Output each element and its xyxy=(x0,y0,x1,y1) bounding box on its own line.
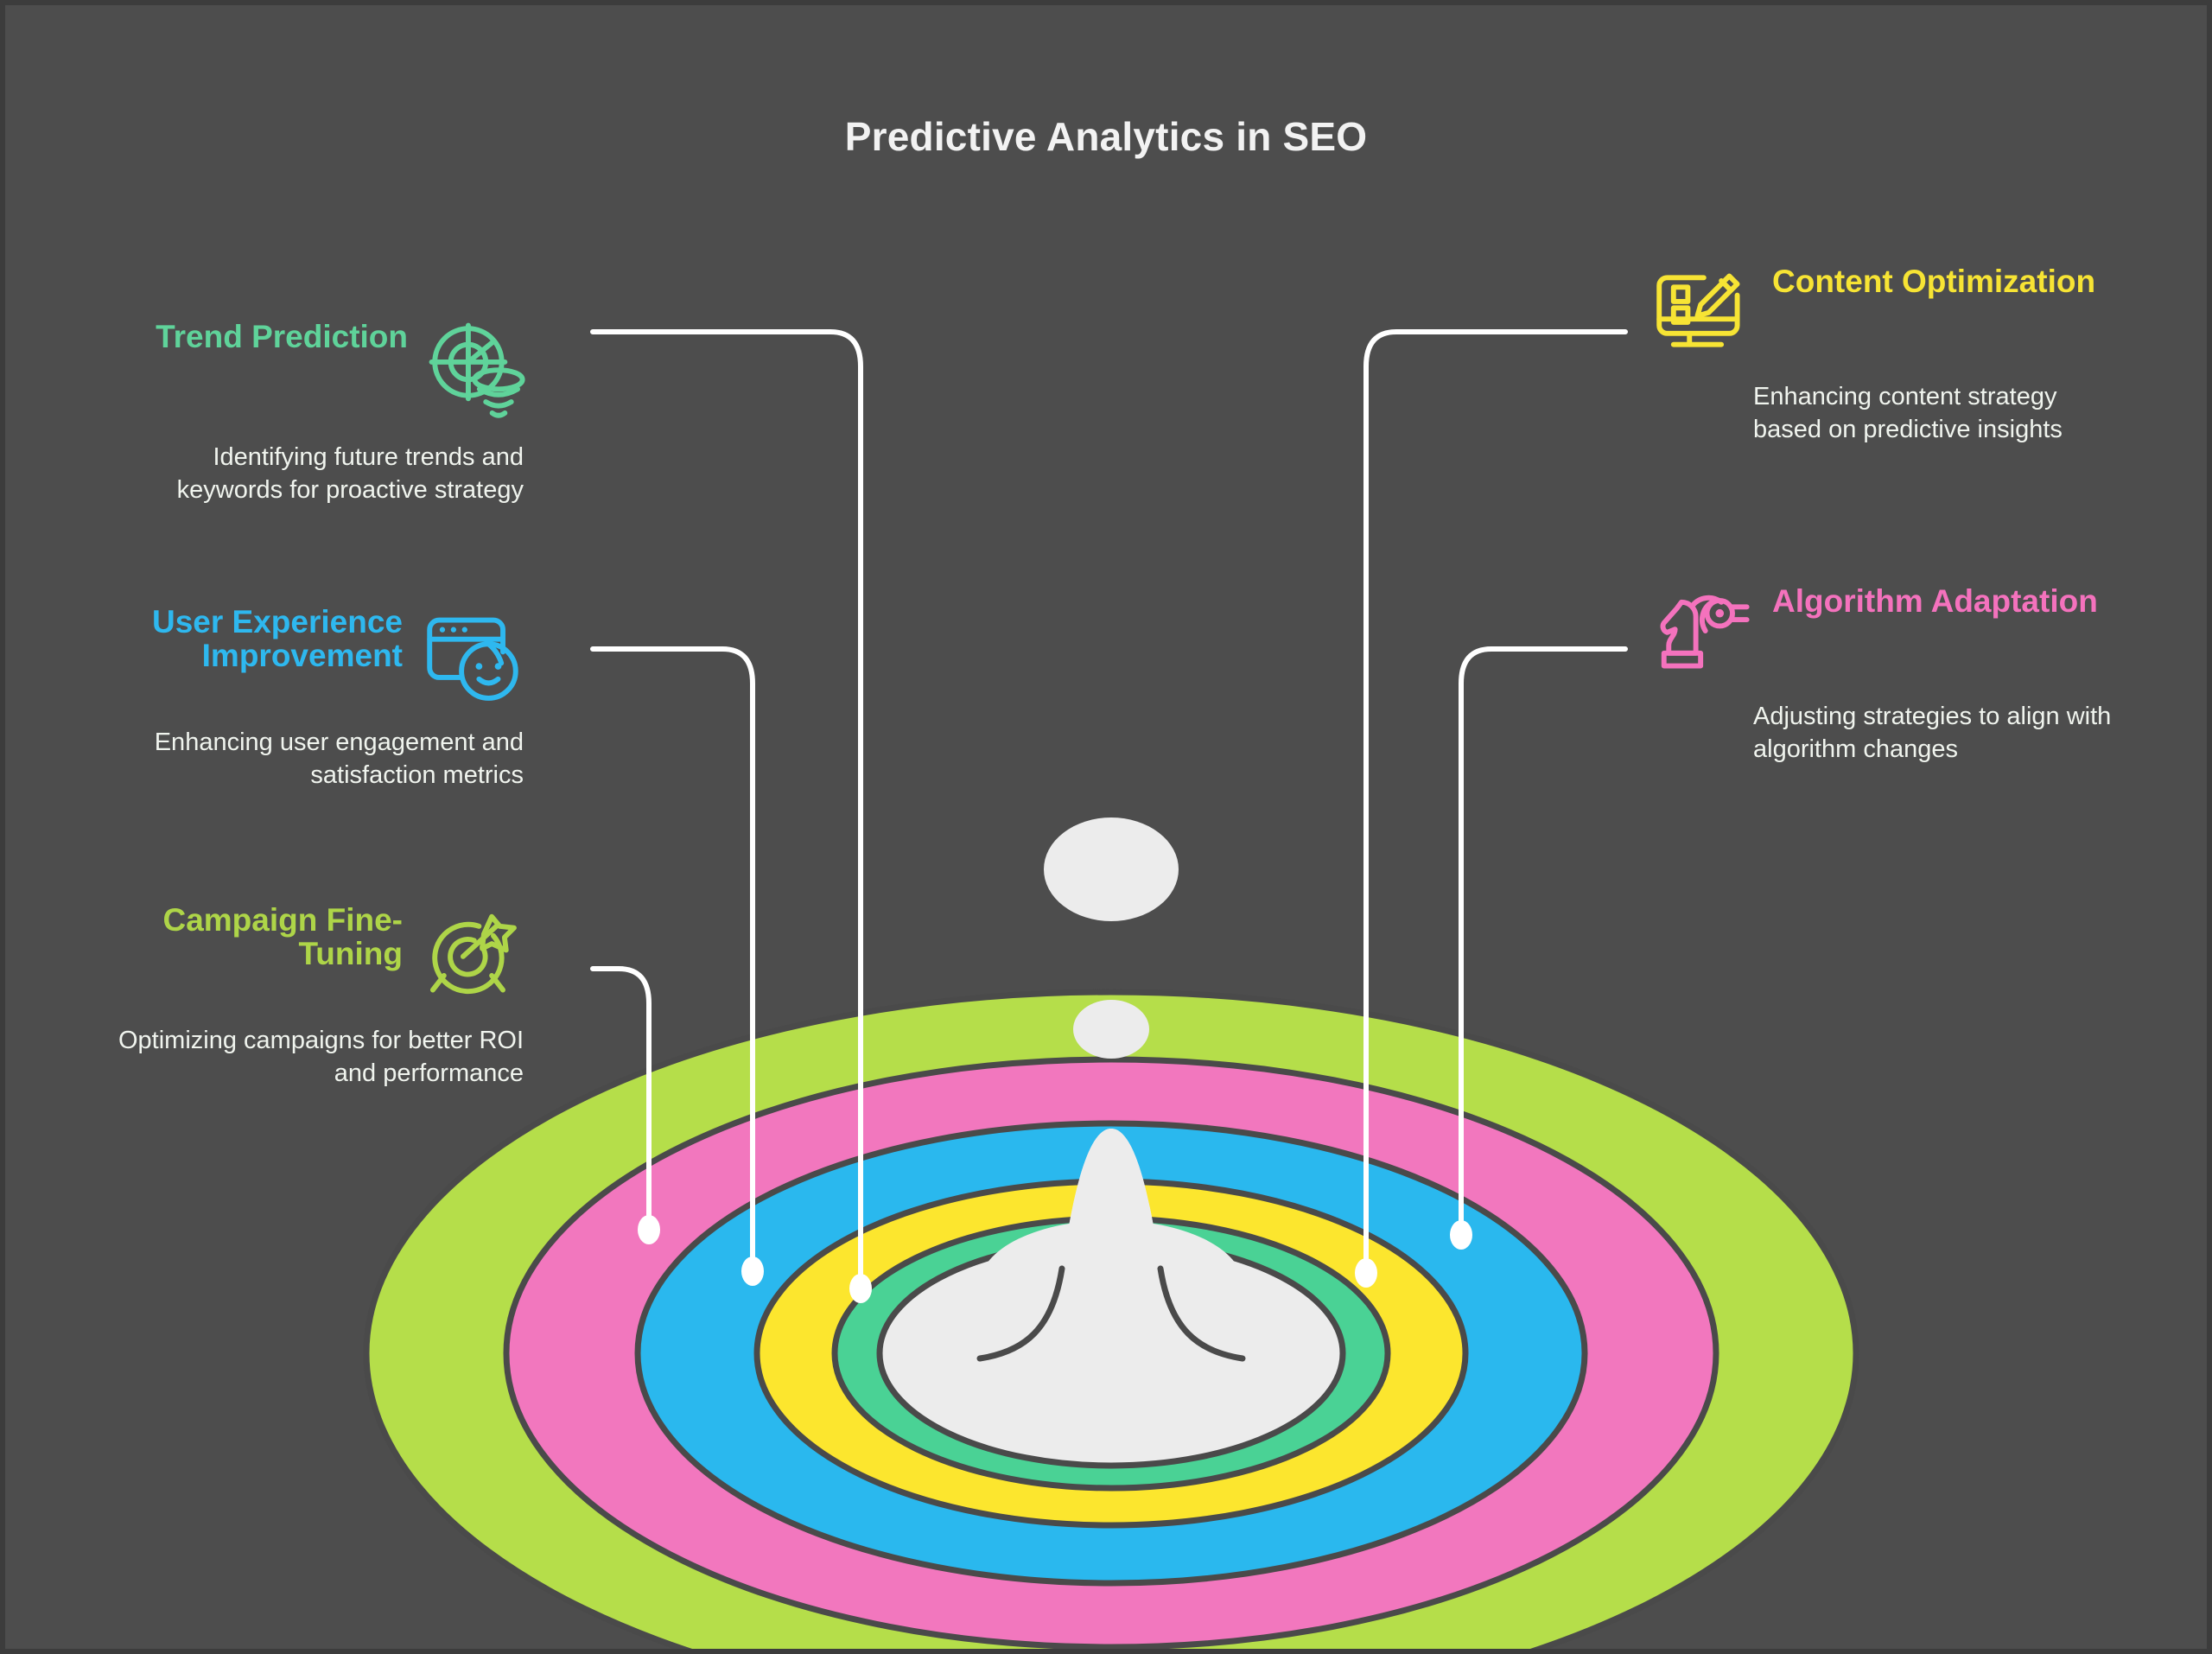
node-desc-trend: Identifying future trends and keywords f… xyxy=(66,442,524,506)
node-title-algorithm: Algorithm Adaptation xyxy=(1772,580,2098,619)
dot-content xyxy=(1355,1258,1377,1288)
target-rings-diagram xyxy=(5,5,2212,1654)
node-trend-prediction[interactable]: Trend Prediction Identifying future tren… xyxy=(66,321,524,506)
droplet-large xyxy=(1044,817,1179,921)
node-algorithm-adaptation[interactable]: Algorithm Adaptation Adjusting strategie… xyxy=(1651,580,2135,766)
node-content-optimization[interactable]: Content Optimization Enhancing content s… xyxy=(1651,260,2135,446)
node-title-trend: Trend Prediction xyxy=(156,321,408,354)
node-desc-ux: Enhancing user engagement and satisfacti… xyxy=(66,727,524,792)
node-desc-campaign: Optimizing campaigns for better ROI and … xyxy=(66,1025,524,1090)
node-campaign-fine-tuning[interactable]: Campaign Fine-Tuning Optimizing campaign… xyxy=(66,904,524,1090)
node-title-campaign: Campaign Fine-Tuning xyxy=(66,904,403,971)
dot-campaign xyxy=(638,1215,660,1244)
node-desc-content: Enhancing content strategy based on pred… xyxy=(1651,381,2135,446)
infographic-canvas: Predictive Analytics in SEO xyxy=(0,0,2212,1654)
node-user-experience-improvement[interactable]: User Experience Improvement Enhancing us… xyxy=(66,606,524,792)
target-arrow-icon xyxy=(422,904,524,1006)
dot-ux xyxy=(741,1256,764,1286)
chess-knight-gear-icon xyxy=(1651,580,1753,682)
monitor-pencil-icon xyxy=(1651,260,1753,362)
node-desc-algorithm: Adjusting strategies to align with algor… xyxy=(1651,701,2135,766)
dot-trend xyxy=(849,1274,872,1303)
node-title-ux: User Experience Improvement xyxy=(66,606,403,673)
droplet-small xyxy=(1073,1000,1149,1059)
browser-smiley-icon xyxy=(422,606,524,708)
radar-funnel-icon xyxy=(427,321,529,423)
dot-algorithm xyxy=(1450,1220,1472,1250)
node-title-content: Content Optimization xyxy=(1772,260,2095,299)
